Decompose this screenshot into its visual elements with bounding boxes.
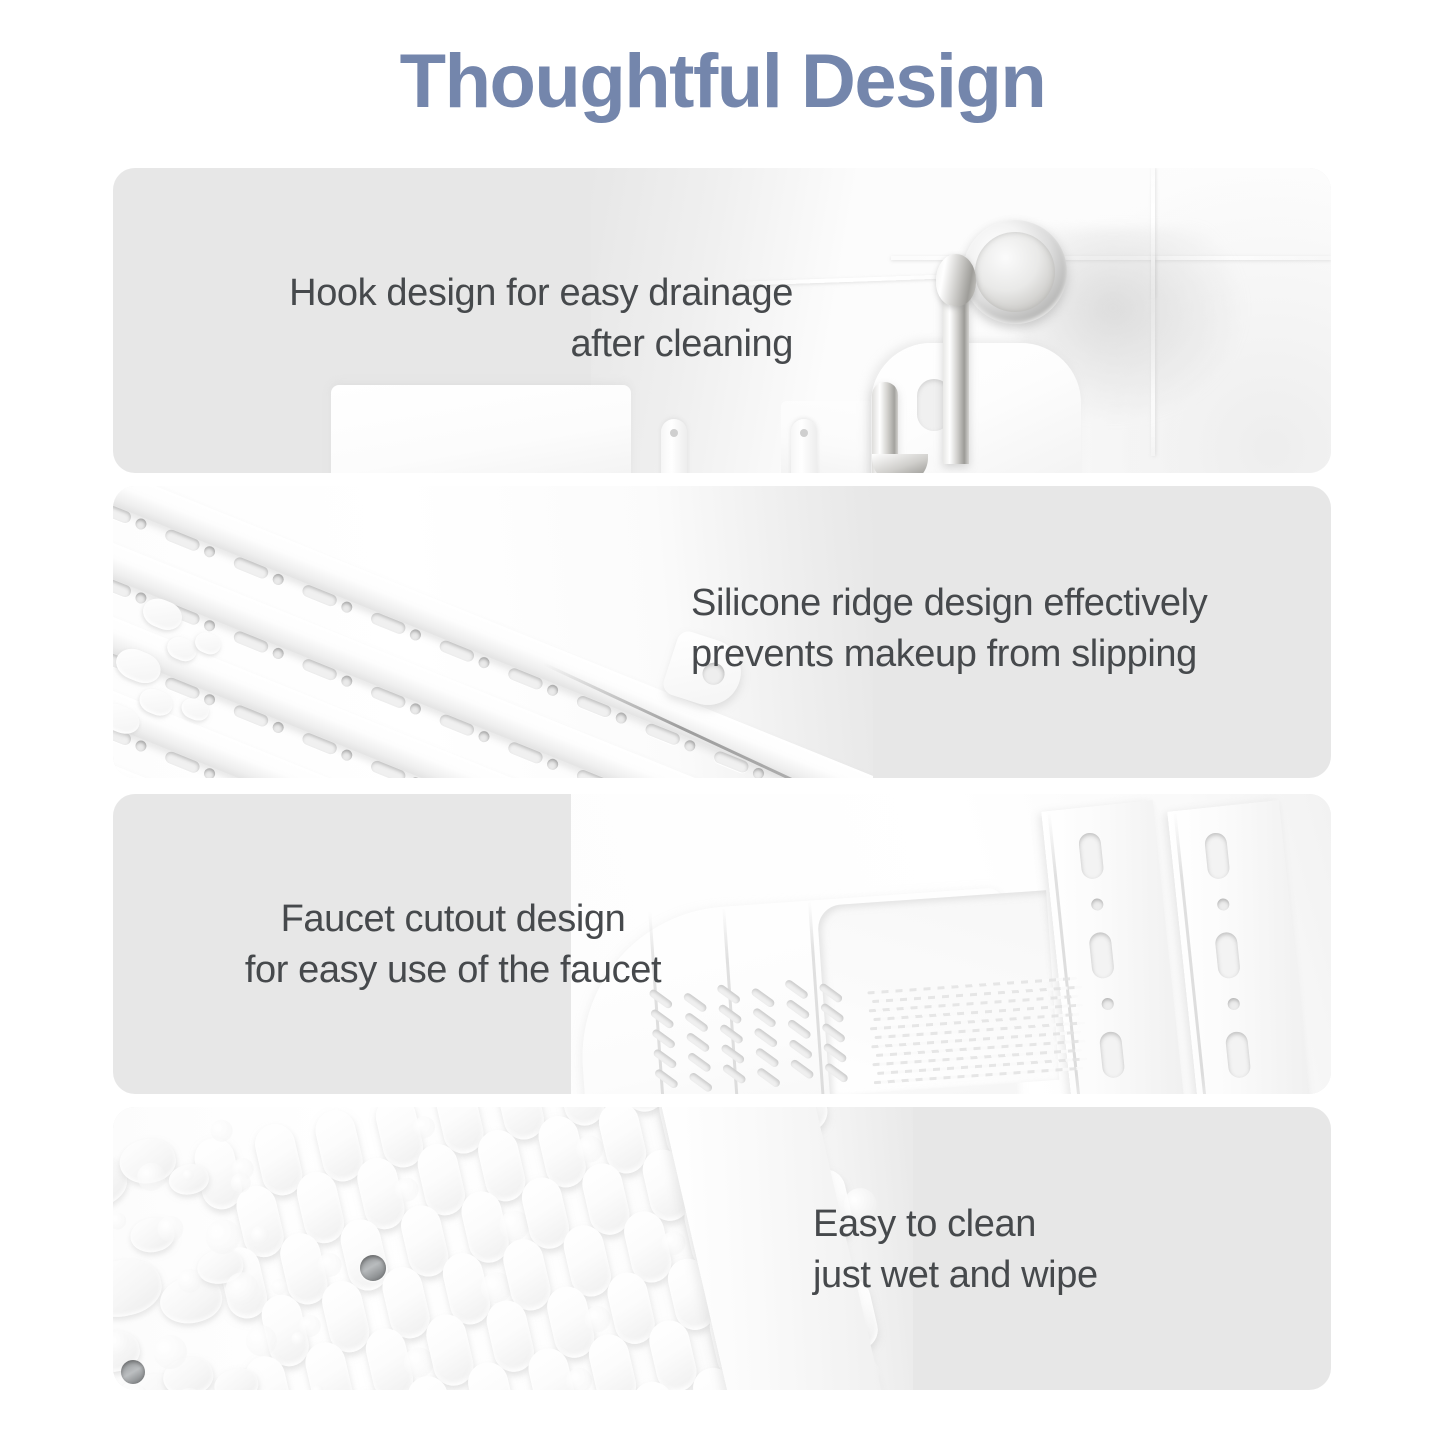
- page-title: Thoughtful Design: [0, 38, 1445, 125]
- easy-clean-photo: [113, 1107, 913, 1390]
- infographic-page: Thoughtful Design Hook design for easy d…: [0, 0, 1445, 1445]
- suction-hook-base-icon: [963, 220, 1067, 324]
- mat-peg: [791, 419, 817, 473]
- hook-stem-icon: [943, 286, 969, 464]
- hook-knob-icon: [936, 254, 976, 306]
- mat-peg: [661, 419, 687, 473]
- feature-panel-easy-clean: Easy to clean just wet and wipe: [113, 1107, 1331, 1390]
- dashed-texture: [648, 980, 875, 1094]
- mat-edge-left: [331, 385, 631, 473]
- hook-arm-icon: [872, 382, 898, 473]
- drain-hole-icon: [360, 1255, 386, 1281]
- panel-caption: Hook design for easy drainage after clea…: [153, 268, 793, 369]
- feature-panel-faucet-cutout: Faucet cutout design for easy use of the…: [113, 794, 1331, 1094]
- feature-panel-silicone-ridge: Silicone ridge design effectively preven…: [113, 486, 1331, 778]
- drain-hole-icon: [121, 1360, 145, 1384]
- feature-panel-hook-drainage: Hook design for easy drainage after clea…: [113, 168, 1331, 473]
- wavy-texture: [867, 977, 1084, 1094]
- panel-caption: Silicone ridge design effectively preven…: [691, 578, 1311, 679]
- mat-slot-bar: [1167, 800, 1313, 1094]
- panel-caption: Faucet cutout design for easy use of the…: [153, 894, 753, 995]
- panel-caption: Easy to clean just wet and wipe: [813, 1199, 1233, 1300]
